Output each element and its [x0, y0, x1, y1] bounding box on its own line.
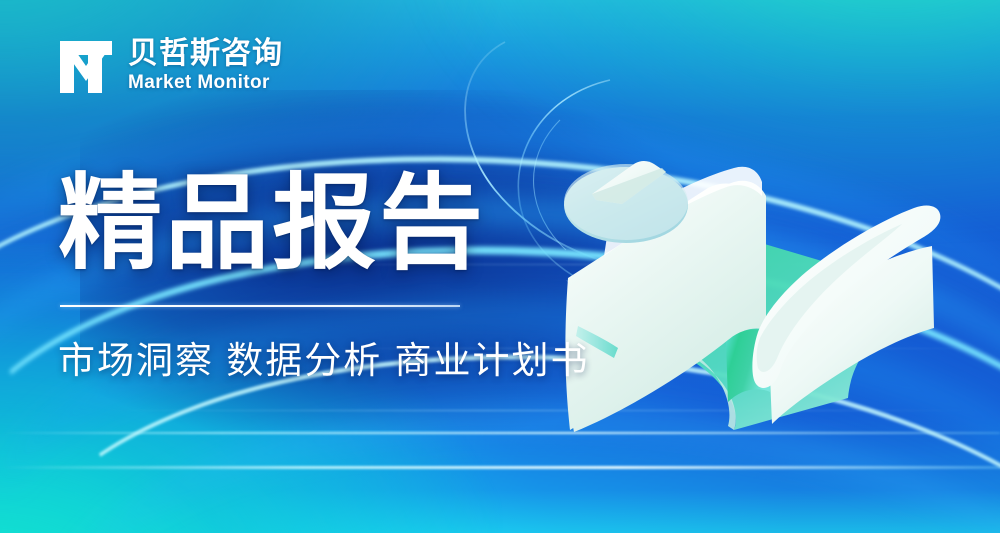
- promo-banner: 贝哲斯咨询 Market Monitor 精品报告 市场洞察 数据分析 商业计划…: [0, 0, 1000, 533]
- brand-logo[interactable]: 贝哲斯咨询 Market Monitor: [58, 38, 283, 95]
- brand-name-cn: 贝哲斯咨询: [128, 38, 283, 70]
- brand-name-en: Market Monitor: [128, 71, 283, 95]
- banner-content: 贝哲斯咨询 Market Monitor 精品报告 市场洞察 数据分析 商业计划…: [0, 0, 1000, 533]
- page-title: 精品报告: [58, 170, 486, 279]
- subtitle: 市场洞察 数据分析 商业计划书: [58, 330, 590, 384]
- brand-logo-text: 贝哲斯咨询 Market Monitor: [128, 38, 283, 95]
- title-divider: [60, 305, 460, 307]
- market-monitor-m-logo-icon: [58, 39, 114, 95]
